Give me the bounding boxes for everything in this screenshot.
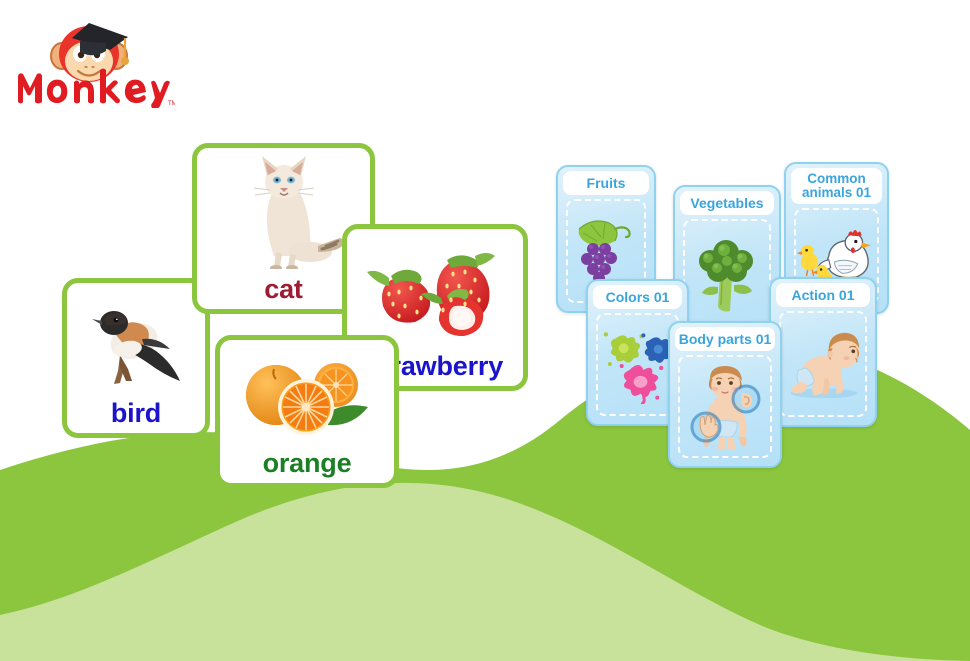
category-card-title: Common animals 01	[791, 168, 882, 204]
category-card-title: Action 01	[776, 283, 870, 307]
category-card-title: Colors 01	[593, 285, 682, 309]
category-card-image	[596, 313, 679, 416]
monkey-graduate-icon: TM	[10, 8, 175, 108]
cat-photo-icon	[214, 154, 354, 269]
category-card-title: Body parts 01	[675, 327, 775, 351]
word-card-label: orange	[220, 450, 394, 477]
bird-photo-icon	[76, 289, 196, 393]
trademark-mark: TM	[168, 101, 175, 107]
word-card-orange[interactable]: orange	[215, 335, 399, 488]
category-card-action-01[interactable]: Action 01	[769, 277, 877, 427]
bird-photo	[67, 289, 205, 393]
broccoli-icon	[690, 235, 764, 315]
brand-logo[interactable]: TM	[10, 8, 175, 108]
orange-fruit-photo-icon	[232, 346, 382, 443]
category-card-image	[779, 311, 867, 417]
category-card-title: Vegetables	[680, 191, 774, 215]
orange-fruit-photo	[220, 346, 394, 443]
grapes-icon	[571, 215, 641, 287]
word-card-label: bird	[67, 400, 205, 427]
category-card-image	[683, 219, 771, 330]
category-card-title: Fruits	[563, 171, 649, 195]
category-card-body-parts-01[interactable]: Body parts 01	[668, 321, 782, 468]
strawberry-photo	[347, 235, 523, 346]
child-body-parts-icon	[680, 365, 770, 449]
paint-splats-icon	[598, 326, 677, 404]
category-card-vegetables[interactable]: Vegetables	[673, 185, 781, 340]
word-card-bird[interactable]: bird	[62, 278, 210, 438]
crawling-baby-icon	[781, 326, 865, 402]
category-card-image	[678, 355, 772, 458]
strawberry-photo-icon	[355, 236, 515, 346]
